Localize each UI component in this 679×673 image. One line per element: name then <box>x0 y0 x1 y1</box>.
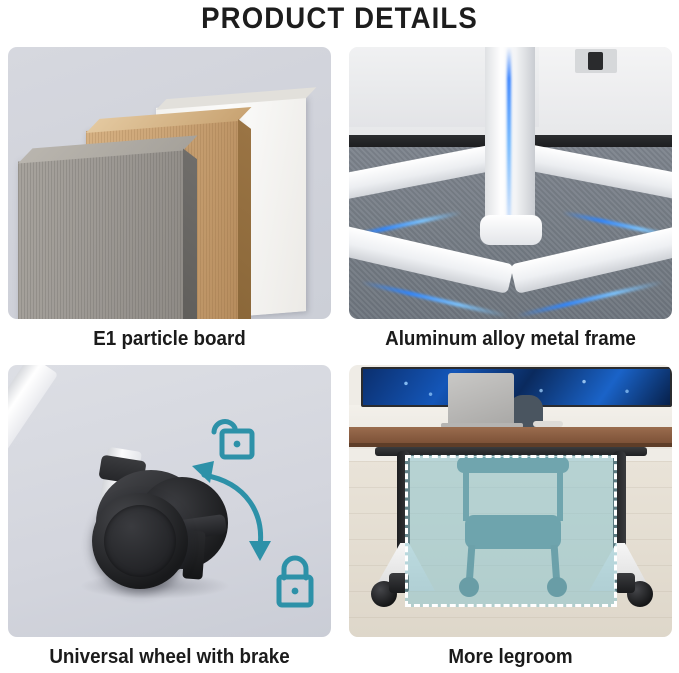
page-title: PRODUCT DETAILS <box>27 2 652 36</box>
panel-particle-board: E1 particle board <box>8 47 331 351</box>
unlock-icon <box>214 422 252 457</box>
panel-universal-wheel: Universal wheel with brake <box>8 365 331 669</box>
column-hub <box>480 215 542 245</box>
product-details-infographic: PRODUCT DETAILS E1 particle board <box>0 0 679 673</box>
more-legroom-photo <box>349 365 672 637</box>
desk-top-surface <box>349 427 672 443</box>
lock-indicator-overlay <box>8 365 331 637</box>
led-glow-column <box>507 47 511 223</box>
universal-wheel-photo <box>8 365 331 637</box>
panel-caption: Aluminum alloy metal frame <box>359 328 663 351</box>
lock-icon <box>279 558 311 605</box>
board-sample-gray <box>18 149 183 319</box>
curved-double-arrow-icon <box>204 475 261 547</box>
arrow-head-unlock <box>192 461 214 483</box>
panel-metal-frame: Aluminum alloy metal frame <box>349 47 672 351</box>
arrow-head-lock <box>249 541 271 561</box>
panel-caption: E1 particle board <box>18 328 322 351</box>
desk-caster-right-inner <box>615 573 635 593</box>
panel-caption: Universal wheel with brake <box>18 646 322 669</box>
panel-caption: More legroom <box>359 646 663 669</box>
wall-socket <box>575 49 617 73</box>
metal-frame-photo <box>349 47 672 319</box>
panel-grid: E1 particle board Al <box>8 47 671 667</box>
laptop <box>448 373 514 425</box>
board-gray-side-edge <box>183 149 197 319</box>
particle-board-photo <box>8 47 331 319</box>
legroom-highlight-area <box>405 455 617 607</box>
board-oak-side-edge <box>238 119 251 319</box>
board-white-top-edge <box>156 87 316 110</box>
panel-more-legroom: More legroom <box>349 365 672 669</box>
